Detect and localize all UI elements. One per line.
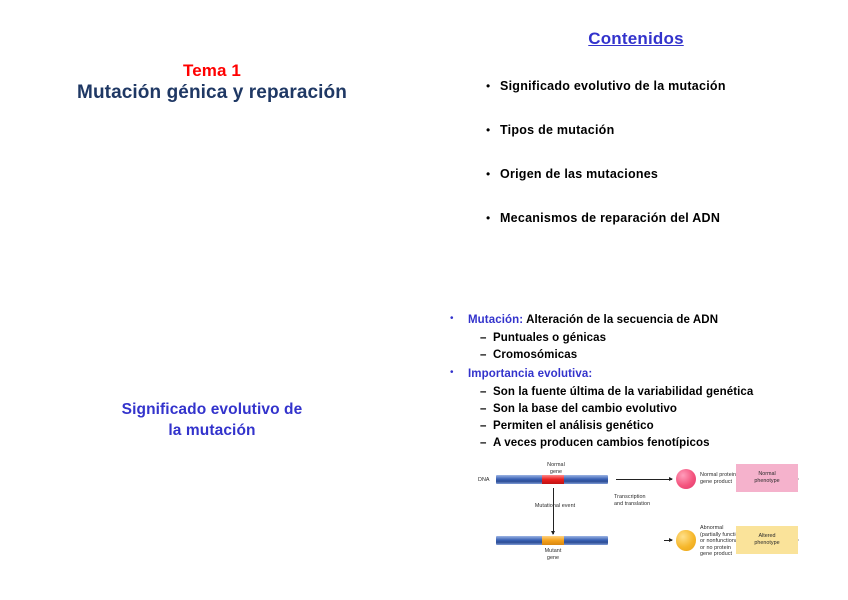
outline-accent-label: Mutación: xyxy=(468,314,523,326)
dash-icon: – xyxy=(480,401,493,418)
significado-heading: Significado evolutivo de la mutación xyxy=(0,399,424,441)
page-title-tema: Tema 1 xyxy=(0,60,424,81)
figure-label-mutational-event: Mutational event xyxy=(510,503,600,510)
slide-contenidos: Contenidos • Significado evolutivo de la… xyxy=(424,0,848,300)
bullet-icon: • xyxy=(450,364,468,381)
figure-label-normal-gene: Normal gene xyxy=(536,462,576,475)
outline-level2-item: – Puntuales o génicas xyxy=(480,330,840,347)
list-item: • Mecanismos de reparación del ADN xyxy=(486,210,836,254)
outline-level2-item: – A veces producen cambios fenotípicos xyxy=(480,435,840,452)
page-title-subject: Mutación génica y reparación xyxy=(0,81,424,105)
significado-heading-line2: la mutación xyxy=(0,420,424,441)
normal-phenotype-box: Normal phenotype xyxy=(736,464,798,492)
outline-level2-item: – Cromosómicas xyxy=(480,347,840,364)
transcription-arrow-top xyxy=(616,479,672,480)
mutacion-outline: • Mutación: Alteración de la secuencia d… xyxy=(450,310,840,452)
outline-level2-item: – Permiten el análisis genético xyxy=(480,418,840,435)
list-item-label: Significado evolutivo de la mutación xyxy=(500,78,726,95)
dash-icon: – xyxy=(480,347,493,364)
bullet-icon: • xyxy=(450,310,468,327)
mutation-phenotype-figure: Normal gene DNA Mutational event Mutant … xyxy=(478,462,812,580)
outline-level2-label: Permiten el análisis genético xyxy=(493,418,654,435)
outline-rest-label: Alteración de la secuencia de ADN xyxy=(523,314,718,326)
altered-phenotype-box: Altered phenotype xyxy=(736,526,798,554)
slide-significado-evolutivo: Significado evolutivo de la mutación xyxy=(0,300,424,600)
outline-level2-label: Puntuales o génicas xyxy=(493,330,606,347)
mutational-event-arrow xyxy=(553,488,554,534)
normal-gene-segment xyxy=(542,475,564,484)
abnormal-protein-blob xyxy=(676,530,696,551)
outline-level2-label: Son la fuente última de la variabilidad … xyxy=(493,384,753,401)
list-item: • Origen de las mutaciones xyxy=(486,166,836,210)
dash-icon: – xyxy=(480,330,493,347)
mutant-gene-segment xyxy=(542,536,564,545)
outline-level1-text: Importancia evolutiva: xyxy=(468,364,592,383)
outline-level2-item: – Son la base del cambio evolutivo xyxy=(480,401,840,418)
list-item-label: Origen de las mutaciones xyxy=(500,166,658,183)
bullet-icon: • xyxy=(486,78,500,95)
slide-mutacion-content: • Mutación: Alteración de la secuencia d… xyxy=(424,300,848,600)
transcription-arrow-bottom xyxy=(664,540,672,541)
figure-label-transcription: Transcription and translation xyxy=(614,494,676,507)
bullet-icon: • xyxy=(486,210,500,227)
outline-level1-item: • Importancia evolutiva: xyxy=(450,364,840,383)
slide-title: Tema 1 Mutación génica y reparación xyxy=(0,0,424,300)
contenidos-heading: Contenidos xyxy=(424,29,848,49)
title-block: Tema 1 Mutación génica y reparación xyxy=(0,60,424,105)
dash-icon: – xyxy=(480,418,493,435)
list-item: • Significado evolutivo de la mutación xyxy=(486,78,836,122)
dash-icon: – xyxy=(480,435,493,452)
outline-level2-label: Son la base del cambio evolutivo xyxy=(493,401,677,418)
outline-level1-item: • Mutación: Alteración de la secuencia d… xyxy=(450,310,840,329)
mutant-gene-dna-bar xyxy=(496,536,608,545)
significado-heading-line1: Significado evolutivo de xyxy=(0,399,424,420)
contenidos-list: • Significado evolutivo de la mutación •… xyxy=(486,78,836,254)
normal-protein-blob xyxy=(676,469,696,489)
bullet-icon: • xyxy=(486,122,500,139)
outline-level2-label: Cromosómicas xyxy=(493,347,577,364)
list-item: • Tipos de mutación xyxy=(486,122,836,166)
outline-level2-item: – Son la fuente última de la variabilida… xyxy=(480,384,840,401)
figure-label-mutant-gene: Mutant gene xyxy=(533,548,573,561)
outline-level1-text: Mutación: Alteración de la secuencia de … xyxy=(468,310,718,329)
figure-label-dna: DNA xyxy=(478,477,496,484)
normal-gene-dna-bar xyxy=(496,475,608,484)
dash-icon: – xyxy=(480,384,493,401)
list-item-label: Tipos de mutación xyxy=(500,122,614,139)
outline-level2-label: A veces producen cambios fenotípicos xyxy=(493,435,710,452)
bullet-icon: • xyxy=(486,166,500,183)
outline-accent-label: Importancia evolutiva: xyxy=(468,368,592,380)
list-item-label: Mecanismos de reparación del ADN xyxy=(500,210,720,227)
